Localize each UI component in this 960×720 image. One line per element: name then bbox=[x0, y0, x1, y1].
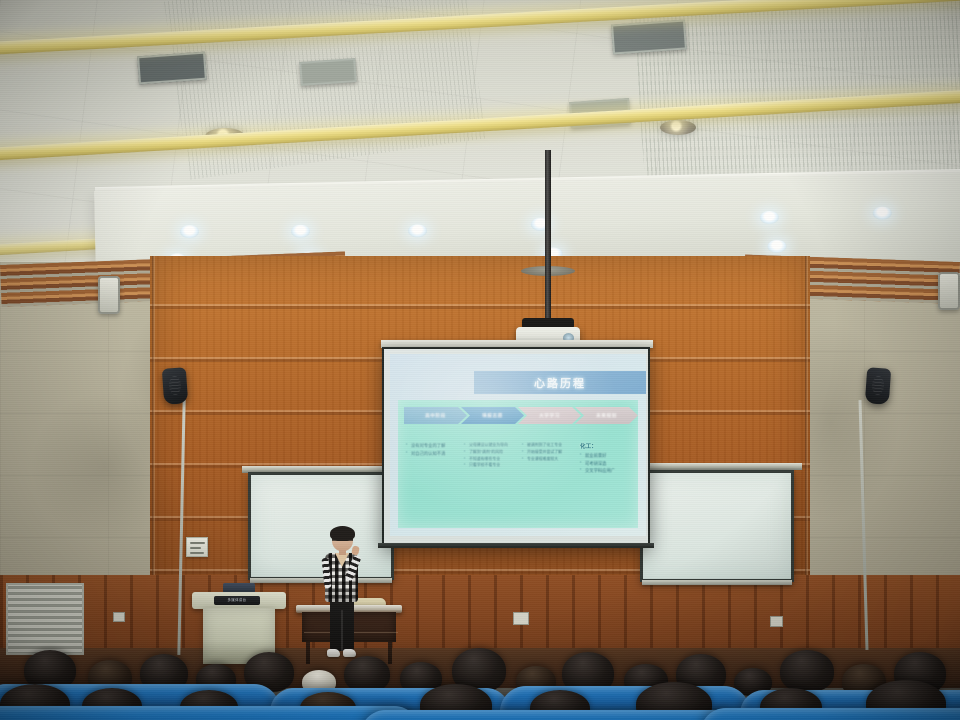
seat-back-front bbox=[0, 706, 420, 720]
downlight bbox=[291, 225, 310, 238]
downlight bbox=[408, 224, 427, 237]
bullet-list: 没有对专业的了解 对自己的认知不清 bbox=[406, 442, 458, 457]
slide-title-band: 心路历程 bbox=[474, 371, 646, 394]
downlight bbox=[180, 225, 199, 238]
slide-column-4: 化工： 就业前景好 可考研深造 交叉学科应用广 bbox=[580, 442, 632, 512]
podium-panel-label: 多媒体讲台 bbox=[214, 597, 260, 602]
seat-back-front bbox=[700, 708, 960, 720]
slide-body-panel: 高中阶段 填报志愿 大学学习 未来规划 bbox=[398, 400, 638, 528]
process-step-2: 填报志愿 bbox=[461, 407, 524, 424]
wall-info-plate bbox=[186, 537, 208, 557]
whiteboard-tray-right bbox=[642, 580, 792, 585]
bullet-item: 交叉学科应用广 bbox=[580, 467, 632, 475]
process-step-label: 未来规划 bbox=[596, 413, 617, 419]
ceiling-vent bbox=[299, 58, 357, 86]
slide-column-1: 没有对专业的了解 对自己的认知不清 bbox=[406, 442, 458, 512]
wall-outlet[interactable] bbox=[770, 616, 783, 627]
downlight bbox=[760, 211, 779, 224]
whiteboard-right[interactable] bbox=[640, 470, 794, 582]
bullet-item: 可考研深造 bbox=[580, 460, 632, 468]
process-chevron-row: 高中阶段 填报志愿 大学学习 未来规划 bbox=[404, 407, 632, 424]
slide-column-3: 被调剂到了化工专业 开始接受并尝试了解 专业课程难度较大 bbox=[522, 442, 574, 512]
slide-title: 心路历程 bbox=[534, 375, 586, 391]
audience-head bbox=[780, 650, 834, 692]
bullet-item: 开始接受并尝试了解 bbox=[522, 449, 574, 456]
ceiling-recessed-fixture bbox=[660, 120, 696, 135]
process-step-1: 高中阶段 bbox=[404, 407, 467, 424]
bullet-list: 父母建议以就业为导向 了解到"调剂"的风险 不知道有哪些专业 只看学校不看专业 bbox=[464, 442, 516, 469]
bullet-item: 就业前景好 bbox=[580, 452, 632, 460]
screen-bottom-weight-bar bbox=[378, 543, 654, 548]
wall-outlet[interactable] bbox=[513, 612, 529, 625]
process-step-label: 高中阶段 bbox=[425, 413, 446, 419]
wall-lamp bbox=[98, 276, 120, 314]
process-step-4: 未来规划 bbox=[575, 407, 638, 424]
bullet-list: 就业前景好 可考研深造 交叉学科应用广 bbox=[580, 452, 632, 475]
process-step-label: 大学学习 bbox=[539, 413, 560, 419]
lecture-hall-photo: 心路历程 高中阶段 填报志愿 大学学习 未来规划 bbox=[0, 0, 960, 720]
bullet-item: 对自己的认知不清 bbox=[406, 450, 458, 458]
audience-head bbox=[344, 656, 390, 692]
projection-screen[interactable]: 心路历程 高中阶段 填报志愿 大学学习 未来规划 bbox=[382, 347, 650, 545]
process-step-label: 填报志愿 bbox=[482, 413, 503, 419]
projector-mount-pole bbox=[545, 150, 551, 322]
bullet-item: 只看学校不看专业 bbox=[464, 462, 516, 469]
process-step-3: 大学学习 bbox=[518, 407, 581, 424]
podium-worktop: 多媒体讲台 bbox=[192, 592, 286, 609]
bullet-item: 了解到"调剂"的风险 bbox=[464, 449, 516, 456]
ceiling-vent bbox=[611, 19, 687, 54]
presenter-hair bbox=[330, 526, 355, 541]
bullet-item: 专业课程难度较大 bbox=[522, 456, 574, 463]
downlight bbox=[873, 206, 892, 219]
presentation-slide: 心路历程 高中阶段 填报志愿 大学学习 未来规划 bbox=[390, 354, 646, 536]
bullet-list: 被调剂到了化工专业 开始接受并尝试了解 专业课程难度较大 bbox=[522, 442, 574, 462]
ceiling-vent bbox=[137, 52, 207, 85]
audience-area bbox=[0, 640, 960, 720]
wall-speaker-left bbox=[162, 367, 188, 405]
wall-speaker-right bbox=[865, 367, 891, 405]
bullet-item: 没有对专业的了解 bbox=[406, 442, 458, 450]
bullet-item: 父母建议以就业为导向 bbox=[464, 442, 516, 449]
seat-back-front bbox=[360, 710, 740, 720]
bullet-item: 被调剂到了化工专业 bbox=[522, 442, 574, 449]
wall-outlet[interactable] bbox=[113, 612, 125, 622]
presenter-hand bbox=[351, 545, 360, 555]
podium-control-panel[interactable]: 多媒体讲台 bbox=[214, 596, 260, 605]
whiteboard-rail-right bbox=[634, 463, 802, 470]
wall-lamp bbox=[938, 272, 960, 310]
downlight bbox=[767, 240, 786, 253]
slide-column-2: 父母建议以就业为导向 了解到"调剂"的风险 不知道有哪些专业 只看学校不看专业 bbox=[464, 442, 516, 512]
slide-bullet-columns: 没有对专业的了解 对自己的认知不清 父母建议以就业为导向 了解到"调剂"的风险 … bbox=[406, 442, 632, 512]
slide-column-heading: 化工： bbox=[580, 442, 632, 450]
